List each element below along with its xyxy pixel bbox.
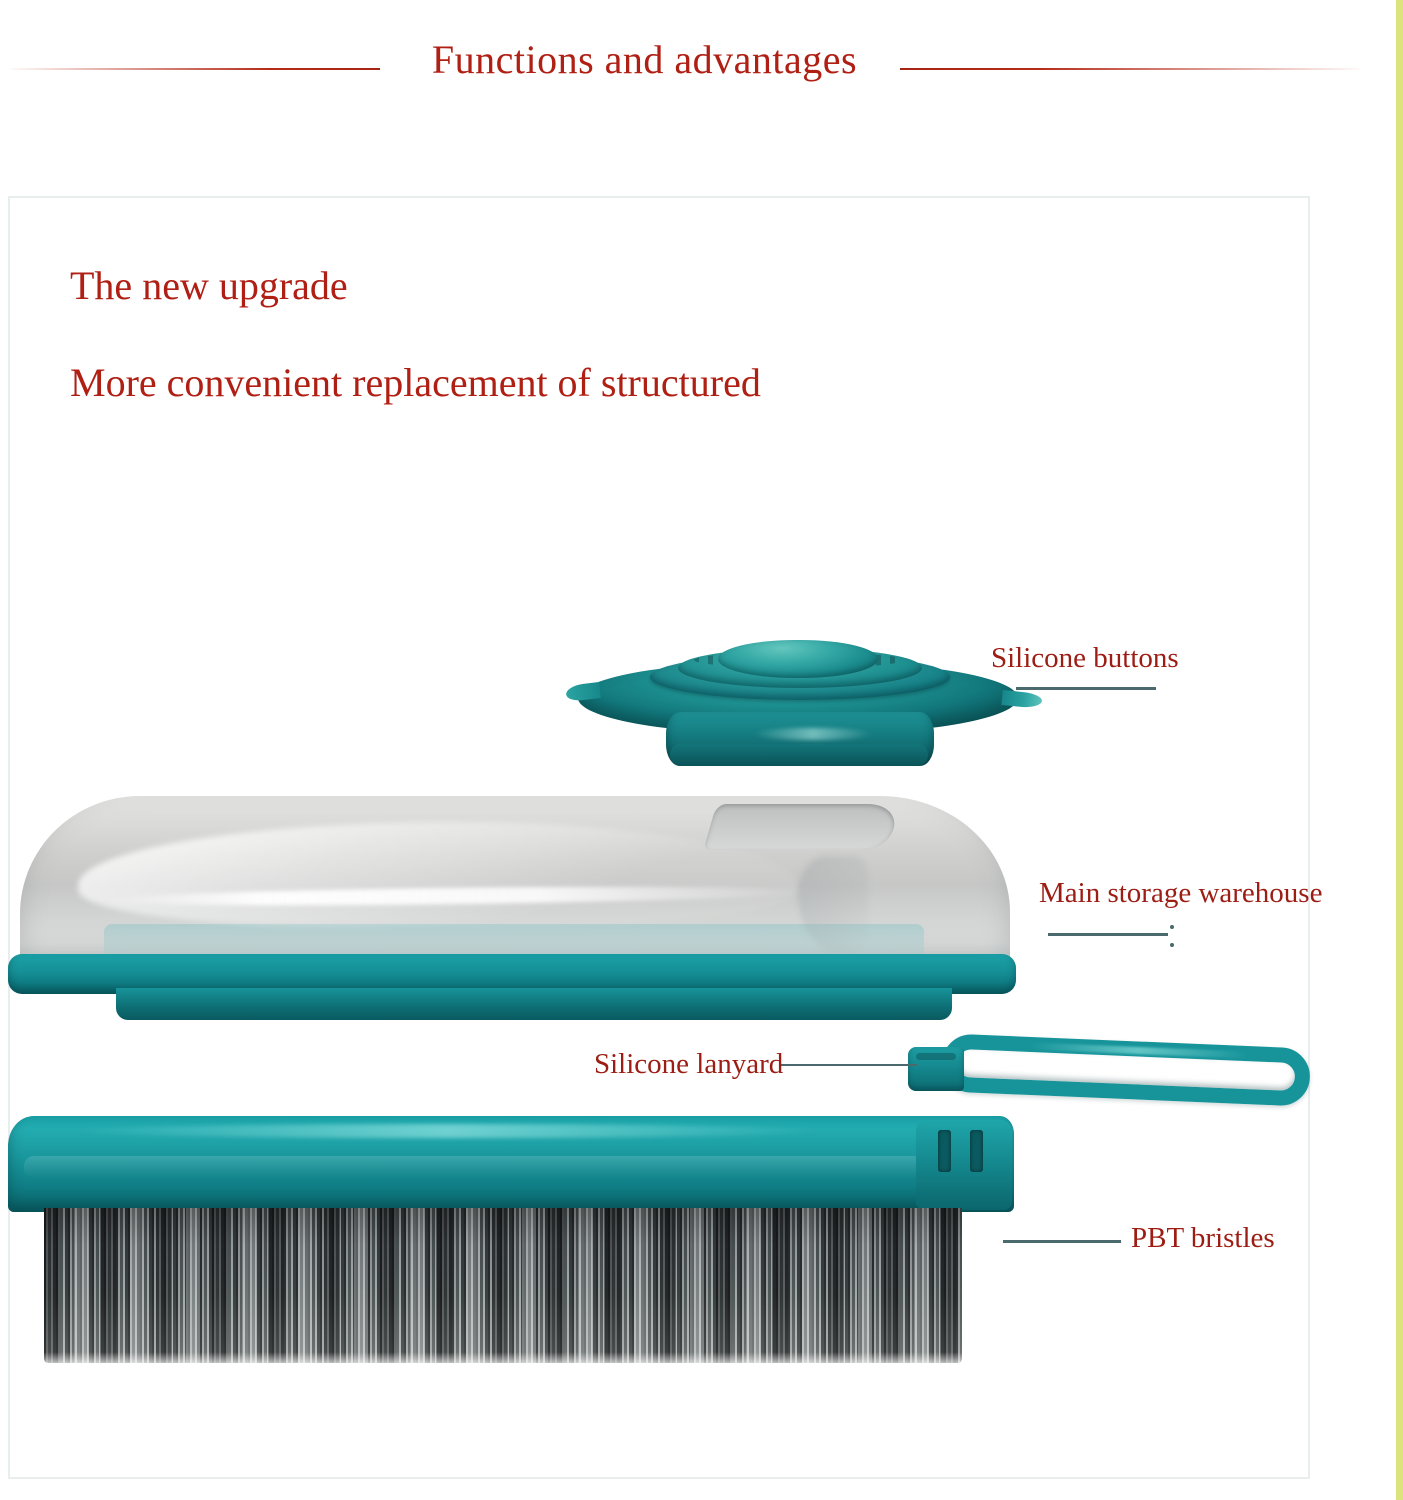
bristle-shading bbox=[44, 1208, 962, 1363]
lid-thumb-notch bbox=[703, 804, 900, 850]
brush-body-band bbox=[24, 1156, 964, 1178]
leader-dot-upper bbox=[1170, 925, 1174, 929]
callout-label-pbt-bristles: PBT bristles bbox=[1131, 1224, 1275, 1253]
callout-label-main-storage-warehouse: Main storage warehouse bbox=[1039, 879, 1322, 908]
lanyard-loop bbox=[941, 1033, 1311, 1106]
edge-accent-stripe bbox=[1396, 0, 1403, 1500]
intro-heading-secondary: More convenient replacement of structure… bbox=[70, 363, 761, 403]
callout-label-silicone-buttons: Silicone buttons bbox=[991, 644, 1179, 673]
leader-line-silicone-lanyard bbox=[781, 1064, 917, 1066]
lid-inner-tint bbox=[104, 924, 924, 958]
silicone-button-cap-part bbox=[578, 640, 1018, 775]
cap-center-dome bbox=[718, 640, 878, 678]
leader-dot-lower bbox=[1170, 943, 1174, 947]
lanyard-clip-end bbox=[908, 1047, 964, 1091]
page-title: Functions and advantages bbox=[0, 40, 1346, 80]
cap-base-highlight bbox=[753, 728, 873, 740]
brush-latch-slot-1 bbox=[938, 1130, 951, 1172]
header: Functions and advantages bbox=[0, 0, 1403, 130]
intro-heading-primary: The new upgrade bbox=[70, 266, 348, 306]
lid-teal-foot bbox=[116, 988, 952, 1020]
brush-body-highlight bbox=[68, 1124, 828, 1138]
silicone-lanyard-part bbox=[908, 1035, 1312, 1113]
pbt-bristles-block bbox=[44, 1208, 962, 1363]
leader-line-main-storage bbox=[1048, 933, 1168, 936]
main-storage-lid-part bbox=[8, 796, 1018, 1018]
cap-base-lip bbox=[670, 744, 928, 766]
brush-end-cap bbox=[916, 1120, 1012, 1210]
brush-base-part bbox=[8, 1116, 1020, 1364]
leader-line-pbt-bristles bbox=[1003, 1240, 1121, 1243]
brush-latch-slot-2 bbox=[970, 1130, 983, 1172]
callout-label-silicone-lanyard: Silicone lanyard bbox=[594, 1050, 783, 1079]
leader-line-silicone-buttons bbox=[1016, 687, 1156, 690]
